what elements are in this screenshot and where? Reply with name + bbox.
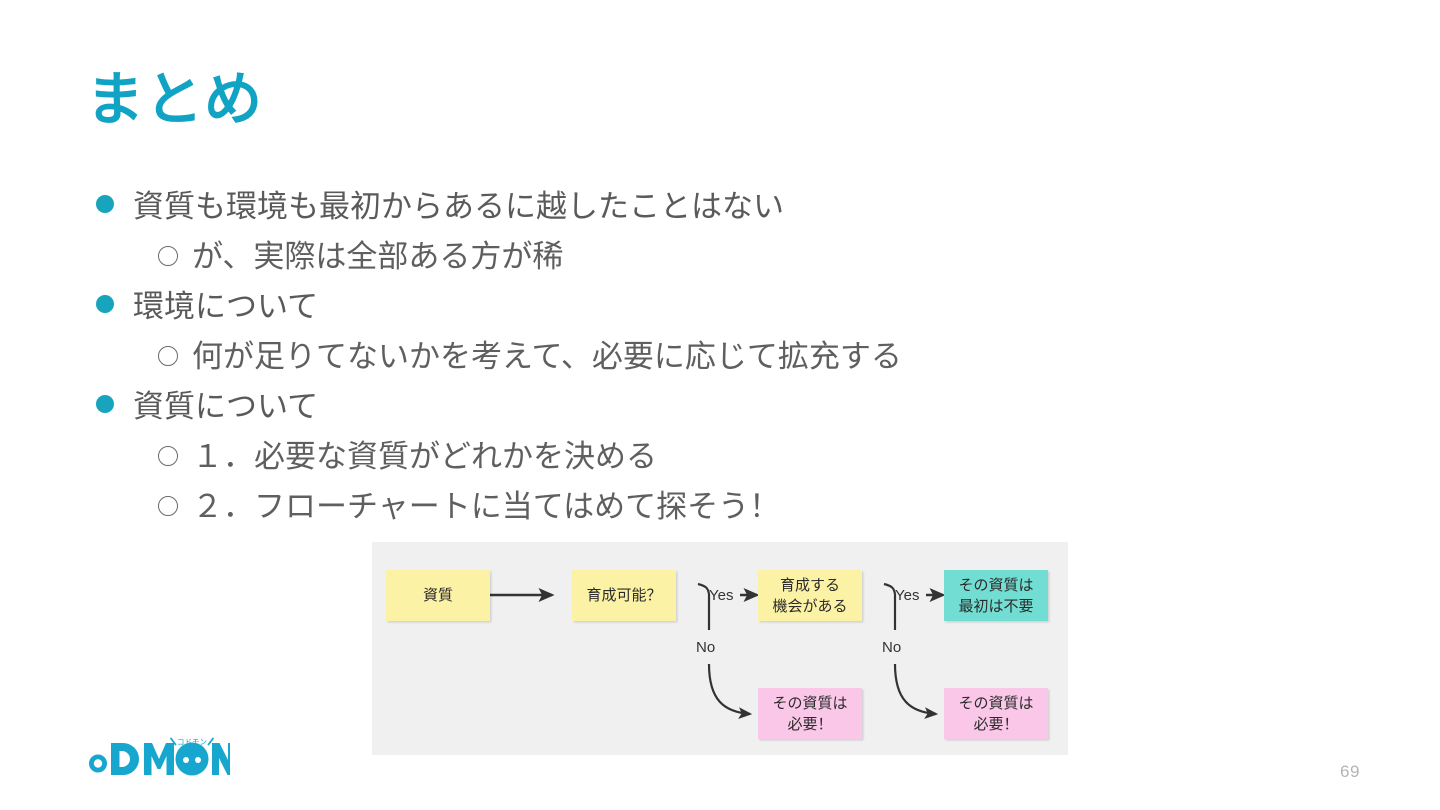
filled-circle-icon: [96, 395, 114, 413]
logo-kana-label: コドモン: [177, 738, 207, 747]
list-item: 資質も環境も最初からあるに越したことはない: [96, 182, 1246, 231]
flow-node-saisho-fuyou: その資質は 最初は不要: [944, 570, 1048, 621]
edge-label-no-2: No: [882, 640, 901, 655]
list-item: １．必要な資質がどれかを決める: [96, 432, 1246, 481]
logo-n-glyph: [212, 743, 230, 775]
arrow-no-2: [895, 664, 936, 714]
flowchart-panel: 資質 育成可能？ 育成する 機会がある その資質は 最初は不要 その資質は 必要…: [372, 542, 1068, 755]
list-item: が、実際は全部ある方が稀: [96, 232, 1246, 281]
flow-node-label-line1: その資質は: [958, 693, 1033, 714]
flow-node-label: 育成可能？: [586, 585, 661, 606]
branch-yes-2-curve: [884, 584, 895, 594]
list-item-label: が、実際は全部ある方が稀: [192, 232, 563, 281]
logo-c-glyph: [59, 743, 76, 776]
hollow-circle-icon: [158, 446, 178, 466]
flow-node-shishitsu: 資質: [386, 570, 490, 621]
bullet-list: 資質も環境も最初からあるに越したことはない が、実際は全部ある方が稀 環境につい…: [96, 182, 1246, 532]
flow-node-label-line2: 必要！: [787, 714, 832, 735]
flow-node-label-line2: 機会がある: [772, 596, 847, 617]
list-item: ２．フローチャートに当てはめて探そう！: [96, 482, 1246, 531]
page-title: まとめ: [86, 68, 263, 132]
list-item: 何が足りてないかを考えて、必要に応じて拡充する: [96, 332, 1246, 381]
flow-node-hitsuyou-2: その資質は 必要！: [944, 688, 1048, 739]
logo-o-glyph: [176, 743, 209, 776]
filled-circle-icon: [96, 295, 114, 313]
list-item-label: 環境について: [133, 282, 318, 331]
list-item-label: 資質について: [133, 382, 318, 431]
logo-o-eye-right: [195, 757, 201, 763]
flow-node-ikusei-kanou: 育成可能？: [572, 570, 676, 621]
flow-node-ikusei-kikai: 育成する 機会がある: [758, 570, 862, 621]
hollow-circle-icon: [158, 246, 178, 266]
flow-node-label-line1: 育成する: [780, 575, 840, 596]
flow-node-label-line1: その資質は: [958, 575, 1033, 596]
hollow-circle-icon: [158, 346, 178, 366]
list-item: 環境について: [96, 282, 1246, 331]
page-number: 69: [1340, 762, 1360, 782]
flow-node-label: 資質: [423, 585, 453, 606]
codmon-logo: コドモン: [52, 737, 230, 781]
flow-node-label-line2: 最初は不要: [958, 596, 1033, 617]
logo-o-eye-left: [183, 757, 189, 763]
arrow-no-1: [709, 664, 750, 714]
edge-label-no-1: No: [696, 640, 715, 655]
hollow-circle-icon: [158, 496, 178, 516]
logo-c-eye-right: [72, 753, 78, 759]
logo-m-glyph: [144, 743, 174, 775]
flow-node-label-line1: その資質は: [772, 693, 847, 714]
flow-node-label-line2: 必要！: [973, 714, 1018, 735]
list-item-label: １．必要な資質がどれかを決める: [192, 432, 657, 481]
filled-circle-icon: [96, 195, 114, 213]
list-item-label: 何が足りてないかを考えて、必要に応じて拡充する: [192, 332, 902, 381]
logo-o-small-hole: [94, 759, 102, 767]
edge-label-yes-2: Yes: [895, 588, 919, 603]
branch-yes-1-curve: [698, 584, 709, 594]
list-item: 資質について: [96, 382, 1246, 431]
edge-label-yes-1: Yes: [709, 588, 733, 603]
flow-node-hitsuyou-1: その資質は 必要！: [758, 688, 862, 739]
list-item-label: 資質も環境も最初からあるに越したことはない: [133, 182, 784, 231]
logo-c-eye-left: [63, 753, 69, 759]
list-item-label: ２．フローチャートに当てはめて探そう！: [192, 482, 780, 531]
